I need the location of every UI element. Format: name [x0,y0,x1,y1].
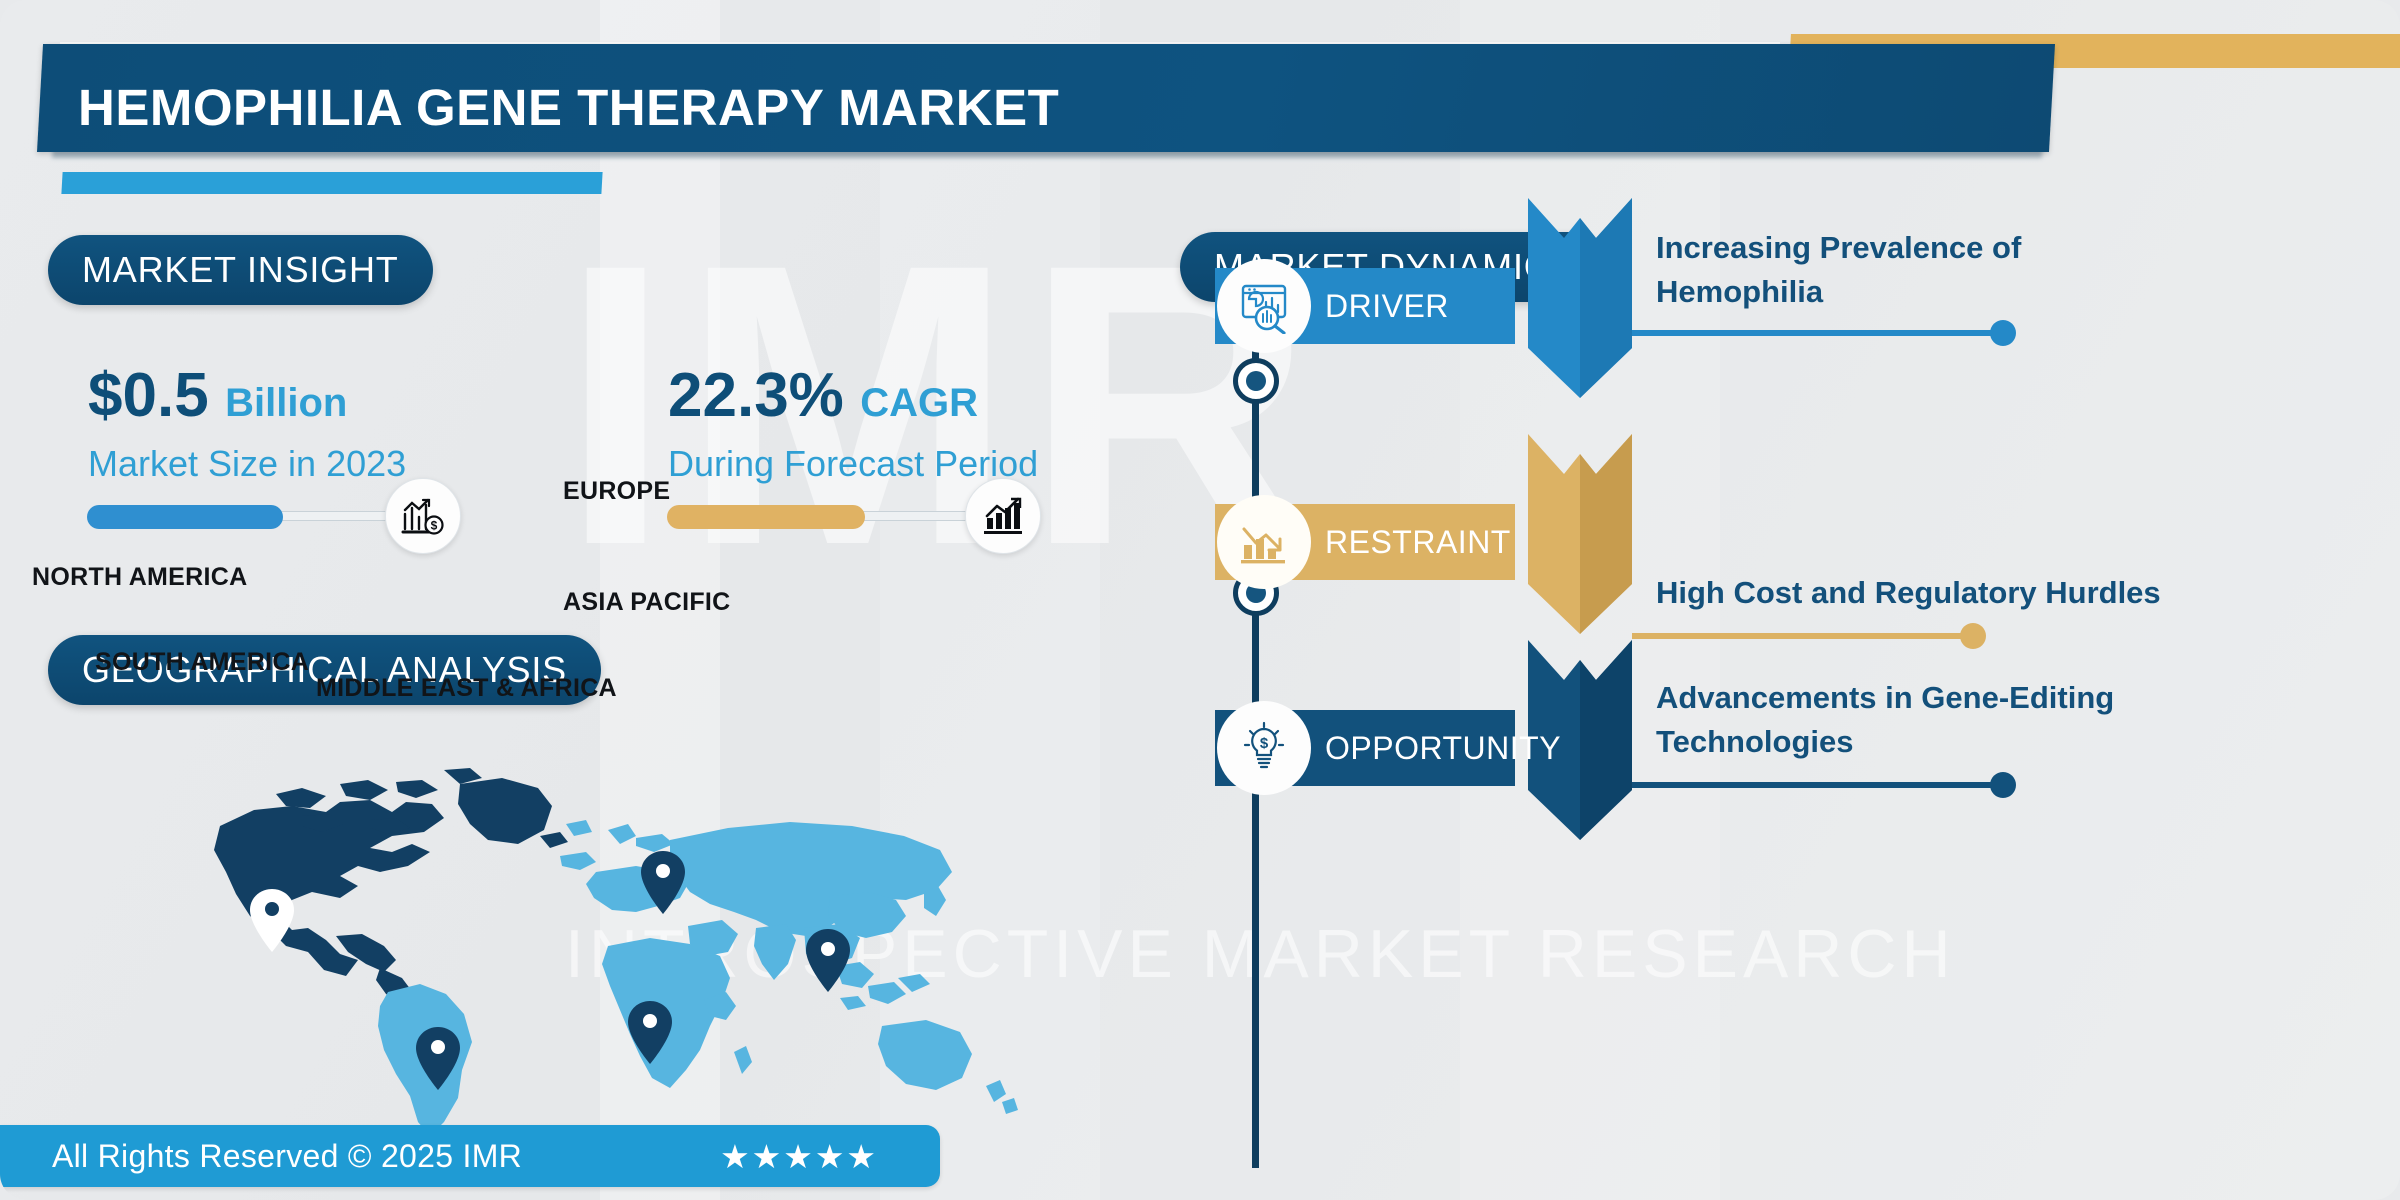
infographic-canvas: IMR INTROSPECTIVE MARKET RESEARCH HEMOPH… [0,0,2400,1200]
market-insight-heading: MARKET INSIGHT [48,235,433,305]
svg-text:$: $ [1260,735,1269,752]
driver-connector-dot [1990,320,2016,346]
dashboard-analysis-icon [1217,259,1311,353]
restraint-connector-dot [1960,623,1986,649]
driver-text: Increasing Prevalence of Hemophilia [1656,226,2176,314]
map-label-middle-east-africa: MIDDLE EAST & AFRICA [316,674,617,703]
map-region-north-america [214,768,568,1006]
stat-cagr: 22.3% CAGR During Forecast Period [668,365,1038,521]
driver-ribbon[interactable]: DRIVER [1215,268,1515,344]
map-label-north-america: NORTH AMERICA [32,563,247,592]
market-dynamics-panel: DRIVER Increasing Prevalence of Hemophil… [1180,230,2400,1200]
opportunity-label: OPPORTUNITY [1325,710,1561,786]
declining-bar-chart-icon [1217,495,1311,589]
map-label-asia-pacific: ASIA PACIFIC [563,588,731,617]
stat-cagr-caption: During Forecast Period [668,443,1038,485]
svg-text:$: $ [431,519,438,533]
opportunity-text: Advancements in Gene-Editing Technologie… [1656,676,2176,764]
stat-market-size-value: $0.5 [88,365,209,427]
stat-market-size-caption: Market Size in 2023 [88,443,408,485]
stat-cagr-progress-fill [667,505,865,529]
driver-arrow-shape [1528,198,1632,398]
dynamics-row-opportunity[interactable]: $ OPPORTUNITY Advancements in Gene-Editi… [1180,662,2400,862]
restraint-ribbon[interactable]: RESTRAINT [1215,504,1515,580]
stat-market-size: $0.5 Billion Market Size in 2023 $ [88,365,408,521]
restraint-text: High Cost and Regulatory Hurdles [1656,571,2276,615]
stat-market-size-progress-track: $ [88,511,408,521]
dynamics-row-driver[interactable]: DRIVER Increasing Prevalence of Hemophil… [1180,220,2400,420]
page-title: HEMOPHILIA GENE THERAPY MARKET [78,78,1978,137]
map-label-south-america: SOUTH AMERICA [95,648,309,677]
market-insight-heading-label: MARKET INSIGHT [82,249,399,291]
restraint-arrow-shape [1528,434,1632,634]
stat-cagr-value: 22.3% [668,365,844,427]
driver-connector-line [1632,330,2002,336]
lightbulb-dollar-icon: $ [1217,701,1311,795]
dynamics-row-restraint[interactable]: RESTRAINT High Cost and Regulatory Hurdl… [1180,456,2400,656]
restraint-connector-line [1632,633,1972,639]
world-map [40,740,1130,1140]
opportunity-connector-dot [1990,772,2016,798]
footer-star-rating: ★★★★★ [720,1137,878,1176]
footer-copyright: All Rights Reserved © 2025 IMR [52,1138,522,1175]
stat-cagr-progress-track [668,511,988,521]
bar-chart-dollar-icon: $ [385,478,461,554]
map-label-europe: EUROPE [563,477,670,506]
stat-market-size-progress-fill [87,505,283,529]
stat-cagr-value-row: 22.3% CAGR [668,365,1038,427]
driver-label: DRIVER [1325,268,1449,344]
stat-cagr-unit: CAGR [860,381,978,426]
opportunity-connector-line [1632,782,2002,788]
title-blue-accent [61,172,602,194]
growth-arrow-chart-icon [965,478,1041,554]
footer-bar: All Rights Reserved © 2025 IMR ★★★★★ [0,1125,940,1187]
restraint-label: RESTRAINT [1325,504,1511,580]
stat-market-size-unit: Billion [225,381,347,426]
opportunity-ribbon[interactable]: $ OPPORTUNITY [1215,710,1515,786]
stat-market-size-value-row: $0.5 Billion [88,365,408,427]
